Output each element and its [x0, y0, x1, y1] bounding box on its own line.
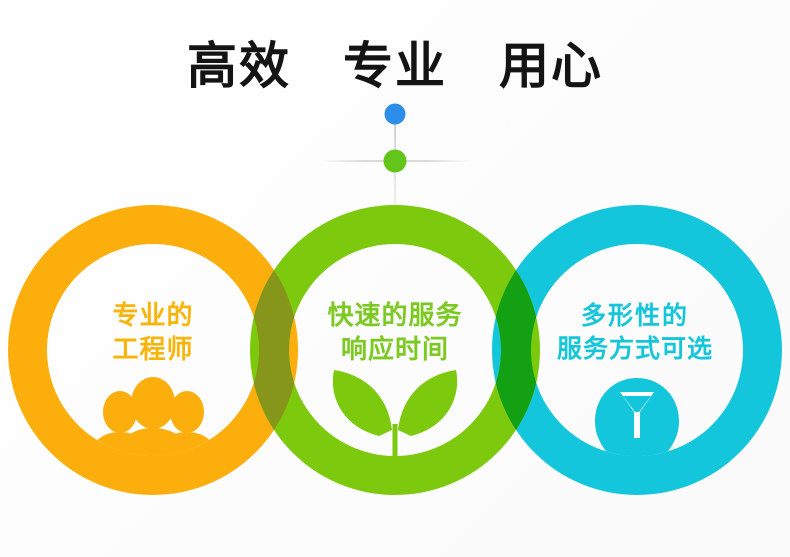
circle-label-response-line1: 快速的服务 [327, 301, 462, 331]
circle-label-response: 快速的服务 响应时间 [280, 300, 510, 368]
circle-label-service-modes-line1: 多形性的 [581, 301, 689, 330]
circle-label-engineers-line2: 工程师 [38, 334, 268, 368]
circle-label-response-line2: 响应时间 [280, 334, 510, 368]
venn-diagram [0, 0, 790, 557]
overlap-green-cyan [0, 0, 790, 557]
infographic-canvas: 高效专业用心 [0, 0, 790, 557]
circle-label-engineers-line1: 专业的 [112, 301, 193, 331]
circle-label-service-modes: 多形性的 服务方式可选 [520, 300, 750, 365]
circle-label-service-modes-line2: 服务方式可选 [520, 333, 750, 366]
circle-label-engineers: 专业的 工程师 [38, 300, 268, 368]
